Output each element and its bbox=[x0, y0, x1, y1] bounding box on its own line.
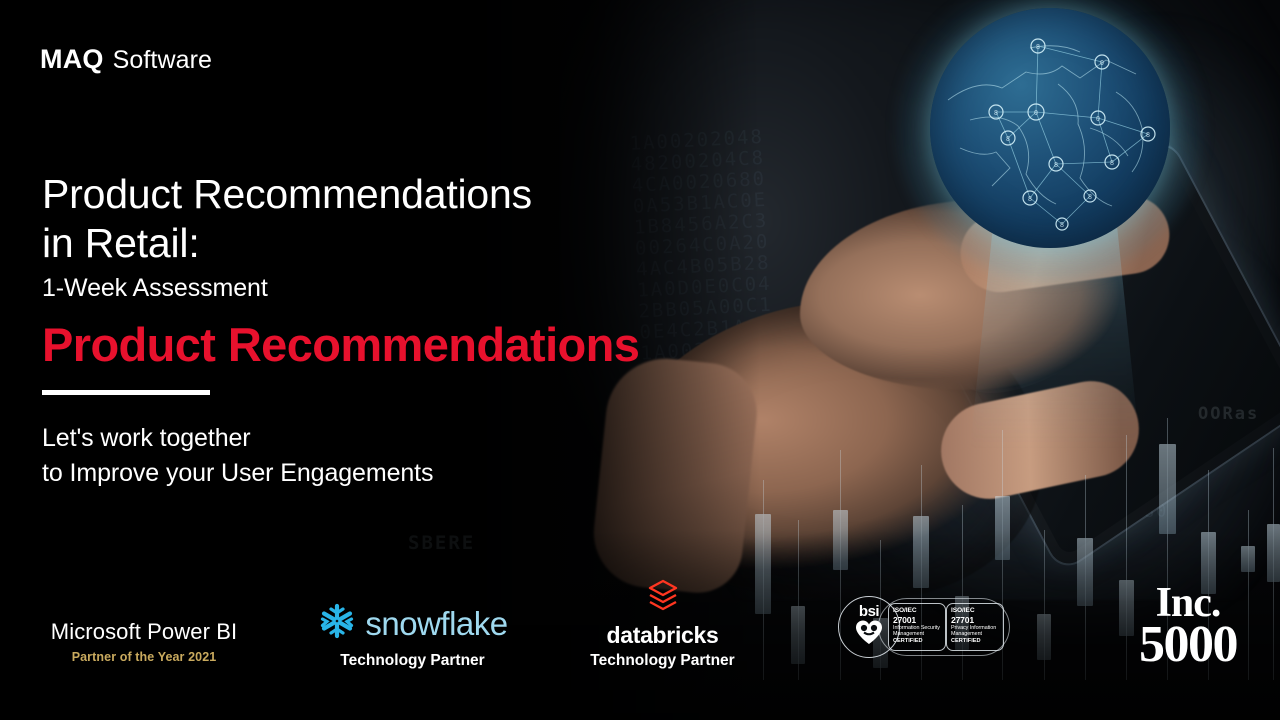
svg-text:8: 8 bbox=[994, 109, 998, 117]
brand-secondary-text: Software bbox=[113, 46, 212, 75]
badge-number: 27701 bbox=[951, 615, 999, 625]
snowflake-icon bbox=[317, 601, 357, 646]
watermark-right: OORas bbox=[1198, 404, 1259, 424]
title-line-1: Product Recommendations bbox=[42, 170, 682, 219]
svg-text:8: 8 bbox=[1060, 221, 1064, 229]
badge-scope-line-2: Management bbox=[893, 631, 941, 637]
bsi-wordmark: bsi bbox=[859, 605, 879, 618]
bsi-heart-icon bbox=[854, 619, 884, 650]
badge-scope-line-1: Privacy Information bbox=[951, 625, 999, 631]
tagline-line-1: Let's work together bbox=[42, 421, 682, 456]
svg-text:0: 0 bbox=[1100, 59, 1104, 67]
partner-logo-microsoft-power-bi[interactable]: Microsoft Power BI Partner of the Year 2… bbox=[34, 619, 254, 664]
svg-text:8: 8 bbox=[1110, 159, 1114, 167]
snowflake-subtitle: Technology Partner bbox=[295, 652, 530, 670]
title-line-2: in Retail: bbox=[42, 219, 682, 268]
brand-primary-text: MAQ bbox=[40, 44, 104, 75]
badge-scope-line-2: Management bbox=[951, 631, 999, 637]
watermark-center: SBERE bbox=[408, 532, 475, 554]
globe-network-map: 80 80 08 88 88 88 bbox=[930, 8, 1170, 248]
emphasis-title: Product Recommendations bbox=[42, 317, 682, 373]
bsi-badge-iso-27701: ISO/IEC 27701 Privacy Information Manage… bbox=[946, 603, 1004, 651]
snowflake-wordmark: snowflake bbox=[365, 605, 507, 643]
bsi-certification-badges[interactable]: bsi ISO/IEC 27001 Information Security bbox=[838, 596, 1008, 658]
inc-rank: 5000 bbox=[1118, 622, 1258, 668]
badge-status: CERTIFIED bbox=[893, 638, 941, 645]
databricks-wordmark: databricks bbox=[560, 622, 765, 649]
presentation-slide: 1A00202048 48200204C8 4CA0020680 0A53B1A… bbox=[0, 0, 1280, 720]
partner-logo-snowflake[interactable]: snowflake Technology Partner bbox=[295, 601, 530, 670]
globe-sphere: 80 80 08 88 88 88 bbox=[930, 8, 1170, 248]
tagline-block: Let's work together to Improve your User… bbox=[42, 421, 682, 491]
maq-software-logo[interactable]: MAQ Software bbox=[40, 44, 212, 75]
partner-logo-databricks[interactable]: databricks Technology Partner bbox=[560, 578, 765, 670]
badge-standard: ISO/IEC bbox=[893, 607, 941, 615]
partner-logo-bar: Microsoft Power BI Partner of the Year 2… bbox=[0, 576, 1280, 686]
badge-standard: ISO/IEC bbox=[951, 607, 999, 615]
svg-text:8: 8 bbox=[1036, 43, 1040, 51]
svg-text:8: 8 bbox=[1146, 131, 1150, 139]
svg-text:8: 8 bbox=[1006, 135, 1010, 143]
svg-text:0: 0 bbox=[1034, 109, 1038, 117]
hologram-globe: 80 80 08 88 88 88 bbox=[930, 8, 1170, 248]
svg-text:0: 0 bbox=[1096, 115, 1100, 123]
assessment-subtitle: 1-Week Assessment bbox=[42, 274, 682, 303]
badge-number: 27001 bbox=[893, 615, 941, 625]
databricks-icon bbox=[646, 601, 680, 618]
svg-text:8: 8 bbox=[1054, 161, 1058, 169]
svg-text:8: 8 bbox=[1088, 193, 1092, 201]
svg-text:8: 8 bbox=[1028, 195, 1032, 203]
databricks-subtitle: Technology Partner bbox=[560, 652, 765, 670]
title-divider bbox=[42, 390, 210, 395]
tagline-line-2: to Improve your User Engagements bbox=[42, 456, 682, 491]
bsi-badge-iso-27001: ISO/IEC 27001 Information Security Manag… bbox=[888, 603, 946, 651]
award-logo-inc-5000[interactable]: Inc. 5000 bbox=[1118, 584, 1258, 668]
badge-scope-line-1: Information Security bbox=[893, 625, 941, 631]
power-bi-title: Microsoft Power BI bbox=[34, 619, 254, 645]
headline-block: Product Recommendations in Retail: 1-Wee… bbox=[42, 170, 682, 491]
power-bi-subtitle: Partner of the Year 2021 bbox=[34, 650, 254, 664]
badge-status: CERTIFIED bbox=[951, 638, 999, 645]
